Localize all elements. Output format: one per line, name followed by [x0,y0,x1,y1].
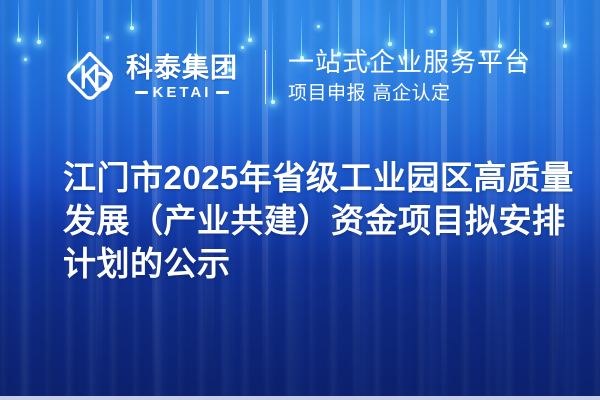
slogan-primary: 一站式企业服务平台 [288,49,531,78]
page-title: 江门市2025年省级工业园区高质量 发展（产业共建）资金项目拟安排 计划的公示 [63,156,573,285]
banner-image: 科泰集团 KETAI 一站式企业服务平台 项目申报 高企认定 江门市2025年省… [0,0,600,400]
banner-header: 科泰集团 KETAI 一站式企业服务平台 项目申报 高企认定 [0,42,600,112]
dash-right-icon [216,91,229,94]
light-spark [430,30,433,33]
light-streak [131,0,132,28]
light-streak [389,10,390,44]
header-divider [265,50,266,104]
light-streak [18,0,19,40]
page-title-line-2: 发展（产业共建）资金项目拟安排 [63,199,573,242]
page-title-line-3: 计划的公示 [63,242,573,285]
dash-left-icon [135,91,148,94]
brand-name-cn: 科泰集团 [126,55,238,82]
light-spark [317,25,320,28]
light-spark [106,36,109,39]
ketai-diamond-monogram-icon [62,49,118,105]
brand-name-en: KETAI [153,85,212,100]
slogan-secondary: 项目申报 高企认定 [288,82,531,106]
light-spark [546,22,549,25]
brand-wordmark: 科泰集团 KETAI [126,55,238,100]
bottom-rule [0,396,600,400]
light-streak [564,2,565,46]
brand-logo: 科泰集团 KETAI [62,49,238,105]
brand-slogan: 一站式企业服务平台 项目申报 高企认定 [288,49,531,106]
light-streak [249,0,250,40]
light-streak [38,12,39,42]
page-title-line-1: 江门市2025年省级工业园区高质量 [63,156,573,199]
brand-name-en-row: KETAI [126,85,238,100]
